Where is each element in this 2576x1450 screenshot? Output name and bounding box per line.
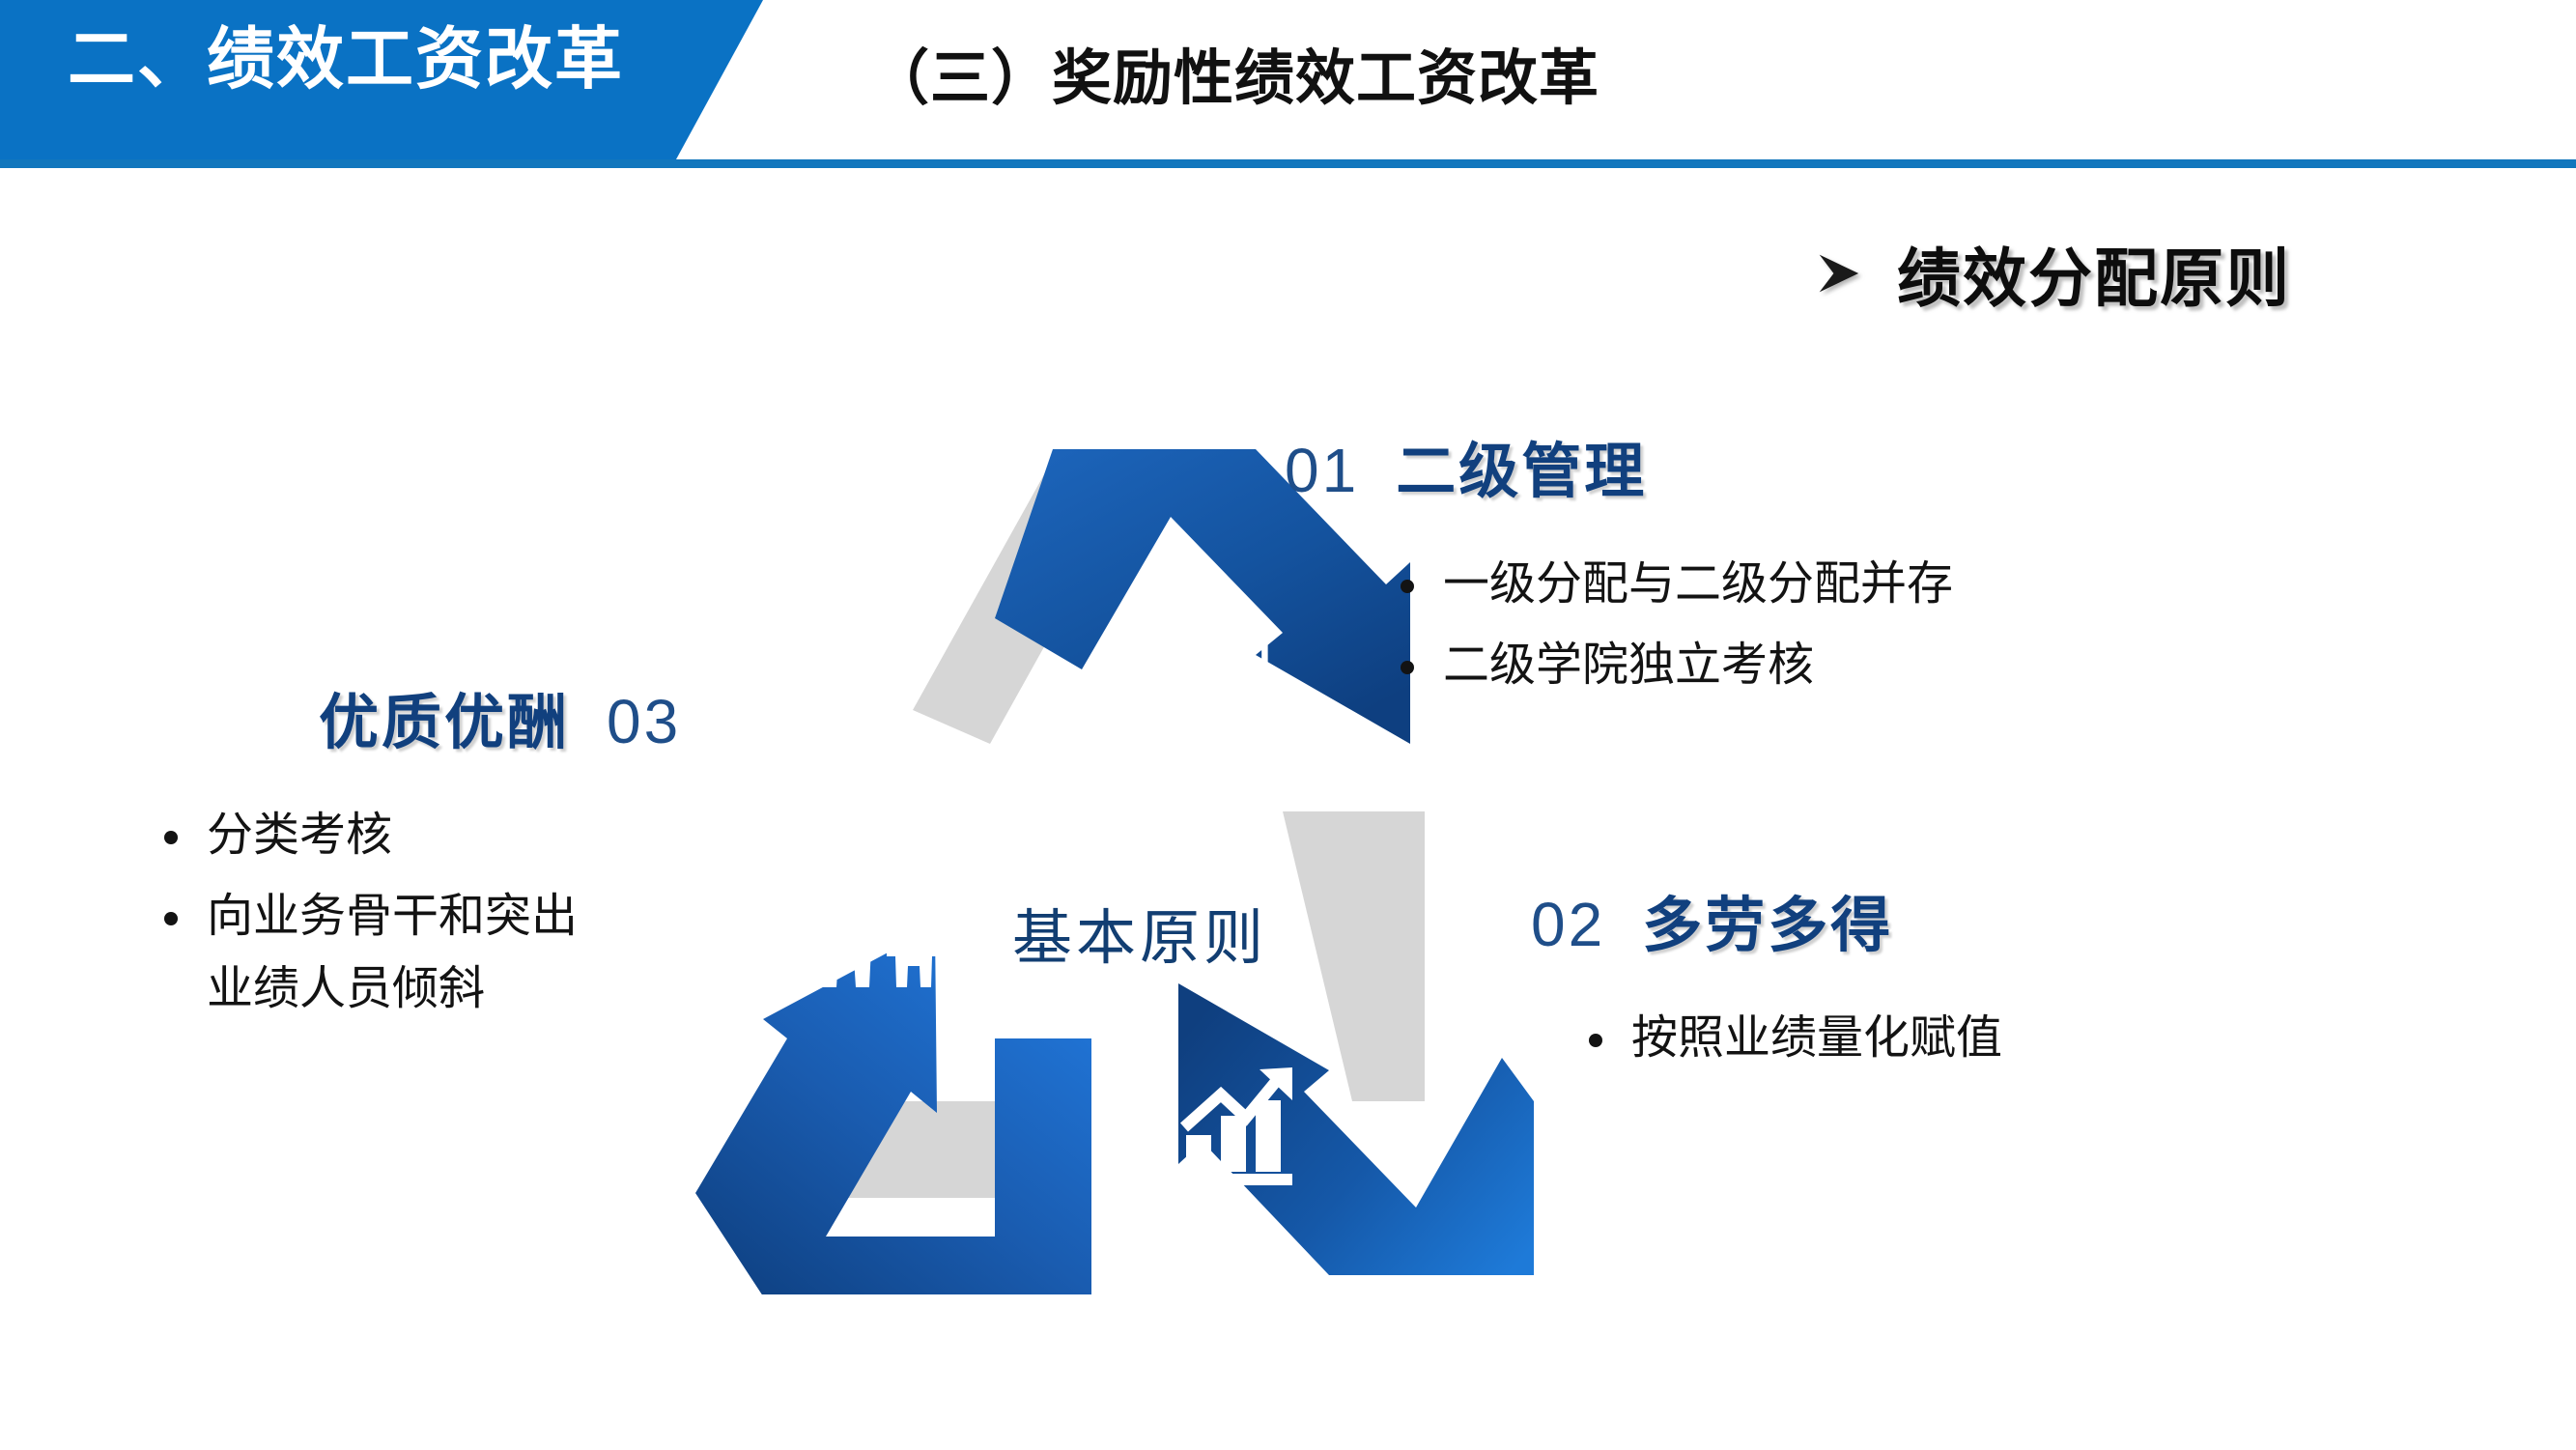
bullet-dot-icon — [164, 912, 178, 925]
bullet-text: 一级分配与二级分配并存 — [1443, 549, 1953, 620]
step-03-bullets: 分类考核 向业务骨干和突出 业绩人员倾斜 — [164, 800, 681, 1025]
list-item: 向业务骨干和突出 业绩人员倾斜 — [164, 881, 681, 1025]
step-01-title: 二级管理 — [1396, 442, 1647, 502]
step-02-title: 多劳多得 — [1642, 896, 1893, 956]
step-02-number: 02 — [1531, 894, 1605, 955]
arrow-right-triangle-icon — [1816, 251, 1860, 296]
bullet-text: 按照业绩量化赋值 — [1631, 1003, 2002, 1074]
step-03-number: 03 — [607, 691, 681, 753]
step-block-02: 02 多劳多得 按照业绩量化赋值 — [1531, 894, 2002, 1084]
header-rule-left — [0, 159, 744, 168]
bullet-dot-icon — [1401, 580, 1414, 593]
list-item: 一级分配与二级分配并存 — [1401, 549, 1953, 620]
step-01-head: 01 二级管理 — [1285, 440, 1953, 502]
bullet-dot-icon — [1589, 1034, 1602, 1047]
bullet-text: 向业务骨干和突出 业绩人员倾斜 — [207, 881, 578, 1025]
bullet-dot-icon — [1401, 661, 1414, 674]
header-rule — [734, 159, 2576, 168]
list-item: 二级学院独立考核 — [1401, 630, 1953, 701]
list-item: 分类考核 — [164, 800, 681, 871]
left-arrow — [695, 927, 1091, 1294]
principle-heading-text: 绩效分配原则 — [1897, 227, 2291, 320]
bullet-dot-icon — [164, 831, 178, 844]
step-01-bullets: 一级分配与二级分配并存 二级学院独立考核 — [1401, 549, 1953, 702]
slide-header: 二、绩效工资改革 （三）奖励性绩效工资改革 — [0, 0, 2576, 169]
step-02-head: 02 多劳多得 — [1531, 894, 2002, 956]
bullet-text: 二级学院独立考核 — [1443, 630, 1814, 701]
document-icon — [1203, 647, 1264, 741]
bullet-text: 分类考核 — [207, 800, 392, 871]
list-item: 按照业绩量化赋值 — [1589, 1003, 2002, 1074]
principle-heading: 绩效分配原则 — [1816, 227, 2291, 320]
page-title: （三）奖励性绩效工资改革 — [869, 29, 1599, 116]
step-block-01: 01 二级管理 一级分配与二级分配并存 二级学院独立考核 — [1285, 440, 1953, 712]
step-02-bullets: 按照业绩量化赋值 — [1589, 1003, 2002, 1074]
diagram-center-label: 基本原则 — [971, 889, 1309, 976]
header-banner-label: 二、绩效工资改革 — [68, 14, 624, 105]
step-01-number: 01 — [1285, 440, 1359, 501]
step-03-head: 优质优酬 03 — [319, 691, 681, 753]
step-block-03: 优质优酬 03 分类考核 向业务骨干和突出 业绩人员倾斜 — [319, 691, 681, 1035]
step-03-title: 优质优酬 — [319, 694, 570, 753]
